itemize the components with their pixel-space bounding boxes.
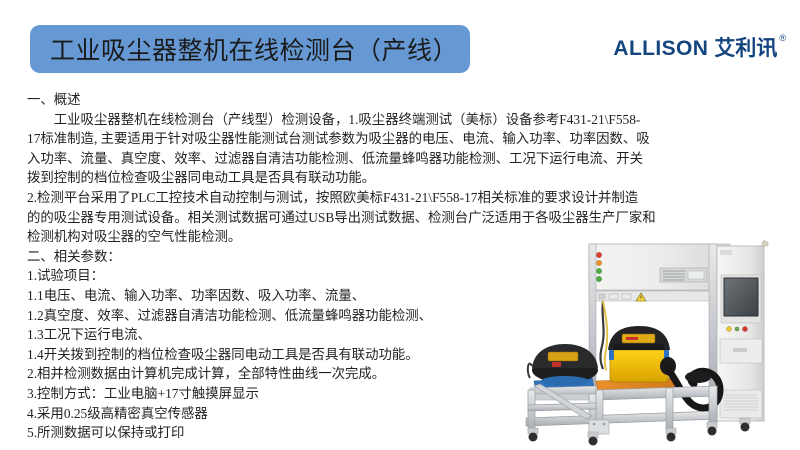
indicator-light-red bbox=[596, 252, 601, 257]
indicator-light-orange bbox=[596, 260, 601, 265]
paragraph1-line1: 工业吸尘器整机在线检测台（产线型）检测设备，1.吸尘器终端测试（美标）设备参考F… bbox=[27, 110, 787, 130]
socket-bar bbox=[596, 291, 709, 301]
button-green bbox=[735, 327, 739, 331]
indicator-light-green-2 bbox=[596, 276, 601, 281]
equipment-photo bbox=[470, 238, 790, 450]
title-banner: 工业吸尘器整机在线检测台（产线） bbox=[30, 25, 470, 73]
vacuum-base-left bbox=[541, 376, 589, 386]
button-yellow bbox=[727, 327, 732, 332]
page-title: 工业吸尘器整机在线检测台（产线） bbox=[50, 31, 458, 67]
company-logo: ALLISON 艾利讯 ® bbox=[613, 38, 786, 59]
paragraph1-line4: 拨到控制的档位检查吸尘器同电动工具是否具有联动功能。 bbox=[27, 168, 787, 188]
paragraph1-line3: 入功率、流量、真空度、效率、过滤器自清洁功能检测、低流量蜂鸣器功能检测、工况下运… bbox=[27, 149, 787, 169]
section-heading-overview: 一、概述 bbox=[27, 90, 787, 110]
emergency-stop-button bbox=[743, 327, 748, 332]
indicator-light-green bbox=[596, 268, 601, 273]
paragraph2-line1: 2.检测平台采用了PLC工控技术自动控制与测试，按照欧美标F431-21\F55… bbox=[27, 188, 787, 208]
vacuum-label-left bbox=[548, 352, 578, 361]
registered-trademark-icon: ® bbox=[779, 34, 786, 43]
slide-canvas: 工业吸尘器整机在线检测台（产线） ALLISON 艾利讯 ® 一、概述 工业吸尘… bbox=[0, 0, 800, 450]
hose-cuff bbox=[685, 371, 711, 383]
control-cabinet bbox=[717, 246, 764, 421]
hmi-touch-screen bbox=[724, 278, 758, 316]
paragraph1-line2: 17标准制造, 主要适用于针对吸尘器性能测试台测试参数为吸尘器的电压、电流、输入… bbox=[27, 129, 787, 149]
logo-english-text: ALLISON bbox=[613, 38, 708, 59]
logo-chinese-text: 艾利讯 bbox=[714, 38, 777, 59]
paragraph2-line2: 的的吸尘器专用测试设备。相关测试数据可通过USB导出测试数据、检测台广泛适用于各… bbox=[27, 208, 787, 228]
